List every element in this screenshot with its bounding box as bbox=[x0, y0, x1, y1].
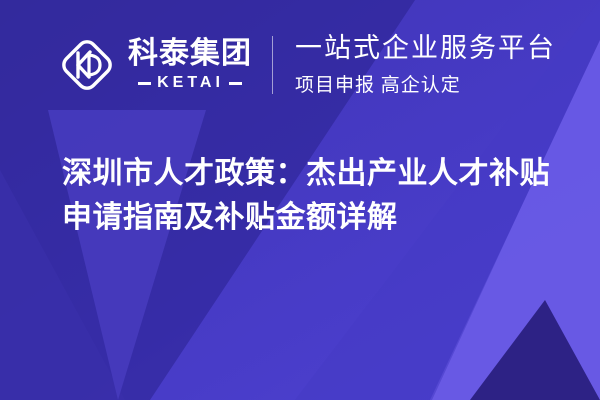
logo-english-row: KETAI bbox=[138, 75, 242, 91]
dash-left-icon bbox=[138, 82, 151, 85]
logo-wordmark: 科泰集团 KETAI bbox=[128, 39, 252, 91]
title-area: 深圳市人才政策：杰出产业人才补贴申请指南及补贴金额详解 bbox=[62, 152, 562, 240]
ketai-kd-monogram-icon bbox=[56, 34, 118, 96]
logo-chinese-name: 科泰集团 bbox=[128, 39, 252, 69]
brand-logo[interactable]: 科泰集团 KETAI bbox=[56, 34, 252, 96]
promo-banner: 科泰集团 KETAI 一站式企业服务平台 项目申报 高企认定 深圳市人才政策：杰… bbox=[0, 0, 600, 400]
banner-header: 科泰集团 KETAI 一站式企业服务平台 项目申报 高企认定 bbox=[0, 0, 600, 130]
tagline-sub: 项目申报 高企认定 bbox=[295, 70, 556, 97]
dash-right-icon bbox=[229, 82, 242, 85]
tagline-main: 一站式企业服务平台 bbox=[295, 33, 556, 63]
tagline-block: 一站式企业服务平台 项目申报 高企认定 bbox=[295, 33, 556, 97]
vertical-divider-icon bbox=[272, 36, 273, 94]
page-title: 深圳市人才政策：杰出产业人才补贴申请指南及补贴金额详解 bbox=[62, 152, 562, 240]
logo-english-name: KETAI bbox=[157, 75, 224, 91]
